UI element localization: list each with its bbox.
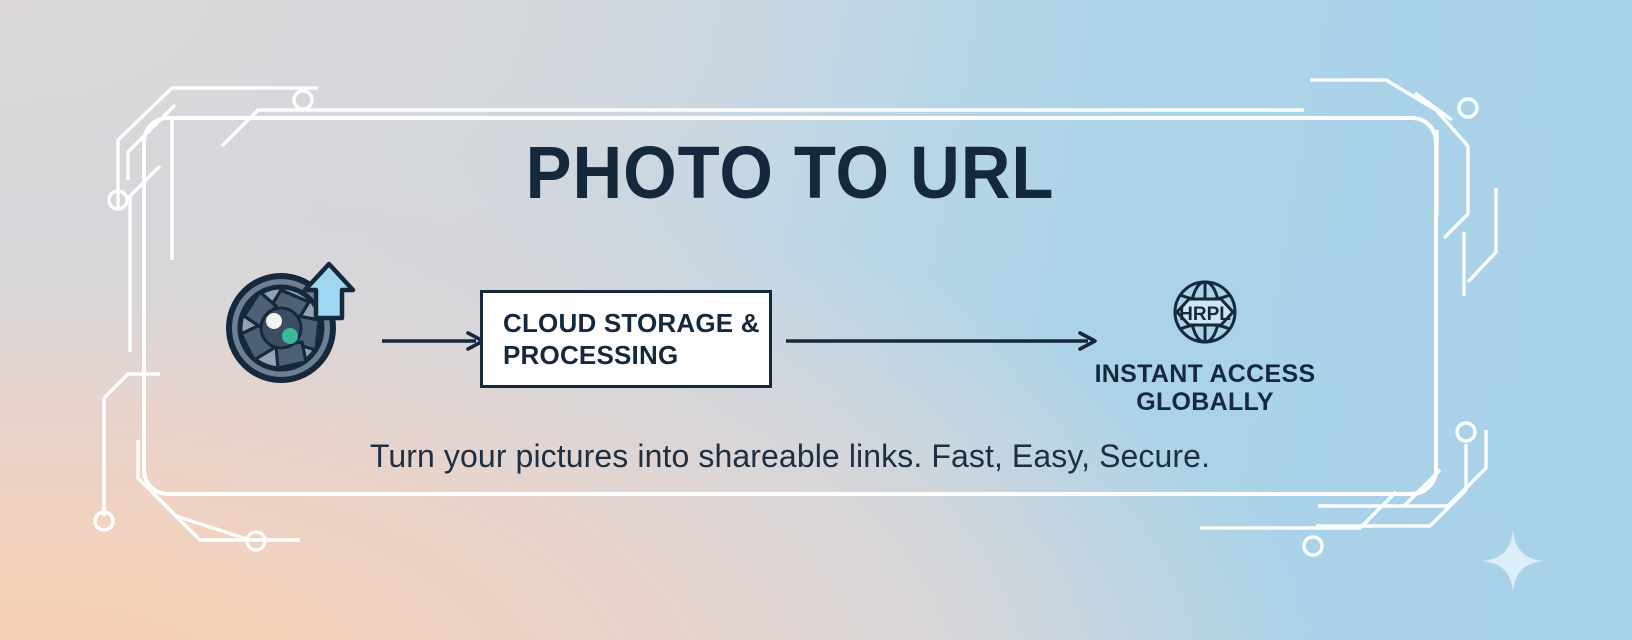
camera-aperture-upload-icon [224,250,359,385]
promo-banner: PHOTO TO URL [0,0,1632,640]
tagline: Turn your pictures into shareable links.… [142,438,1438,475]
globe-icon-text: HRPL [1179,304,1231,325]
globe-icon: HRPL [1163,272,1247,352]
instant-access-label-line1: INSTANT ACCESS [1070,360,1340,388]
arrow-right-icon [786,330,1098,352]
instant-access-step: HRPL INSTANT ACCESS GLOBALLY [1070,272,1340,416]
sparkle-icon [1482,530,1544,592]
process-flow: CLOUD STORAGE & PROCESSING HRPL [142,246,1438,426]
instant-access-label-line2: GLOBALLY [1070,388,1340,416]
page-title: PHOTO TO URL [187,136,1392,210]
cloud-storage-label: CLOUD STORAGE & PROCESSING [483,307,769,372]
cloud-storage-box: CLOUD STORAGE & PROCESSING [480,290,772,388]
arrow-right-icon [382,330,486,352]
